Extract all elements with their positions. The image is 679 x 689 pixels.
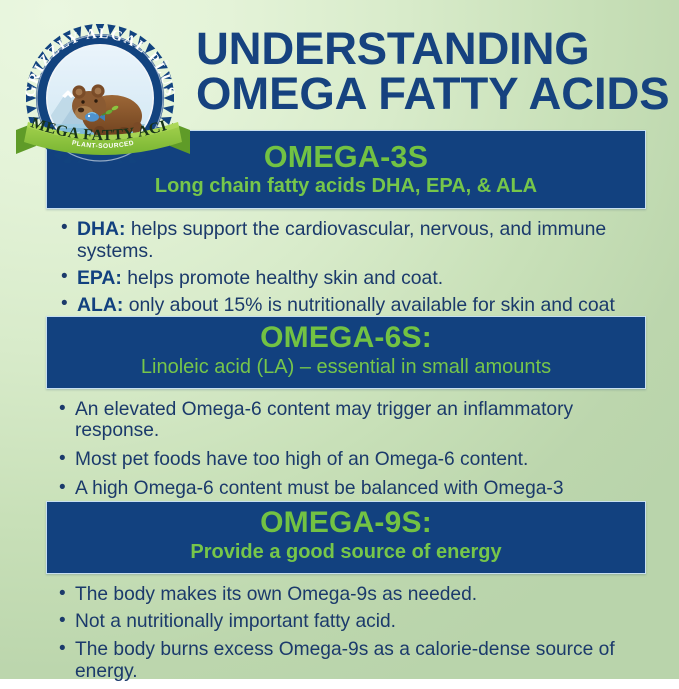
bullet-label: ALA: xyxy=(77,294,123,316)
bullet-text: helps promote healthy skin and coat. xyxy=(122,267,443,289)
section-subtitle-omega-3s: Long chain fatty acids DHA, EPA, & ALA xyxy=(55,175,637,198)
section-header-omega-6s: OMEGA-6S: Linoleic acid (LA) – essential… xyxy=(46,316,646,389)
bullet-text: Not a nutritionally important fatty acid… xyxy=(75,611,396,632)
section-omega-6s: OMEGA-6S: Linoleic acid (LA) – essential… xyxy=(46,316,646,529)
list-item: Most pet foods have too high of an Omega… xyxy=(58,449,646,471)
bullet-list-omega-9s: The body makes its own Omega-9s as neede… xyxy=(46,584,646,684)
infographic-canvas: GRIZZLY ALGAL PLUS ® OMEGA FATTY ACIDS P… xyxy=(0,0,679,679)
brand-logo-seal: GRIZZLY ALGAL PLUS ® OMEGA FATTY ACIDS P… xyxy=(14,18,192,163)
bullet-text: An elevated Omega-6 content may trigger … xyxy=(75,399,573,442)
list-item: EPA: helps promote healthy skin and coat… xyxy=(60,267,646,289)
list-item: An elevated Omega-6 content may trigger … xyxy=(58,399,646,443)
section-title-omega-6s: OMEGA-6S: xyxy=(55,323,637,354)
bullet-text: helps support the cardiovascular, nervou… xyxy=(77,218,606,262)
list-item: The body burns excess Omega-9s as a calo… xyxy=(58,639,646,683)
section-subtitle-omega-6s: Linoleic acid (LA) – essential in small … xyxy=(55,356,637,379)
bullet-text: The body burns excess Omega-9s as a calo… xyxy=(75,639,615,682)
list-item: DHA: helps support the cardiovascular, n… xyxy=(60,218,646,262)
section-omega-9s: OMEGA-9S: Provide a good source of energ… xyxy=(46,501,646,689)
bullet-text: Most pet foods have too high of an Omega… xyxy=(75,449,528,470)
list-item: Not a nutritionally important fatty acid… xyxy=(58,611,646,633)
list-item: The body makes its own Omega-9s as neede… xyxy=(58,584,646,606)
bullet-text: The body makes its own Omega-9s as neede… xyxy=(75,584,477,605)
section-subtitle-omega-9s: Provide a good source of energy xyxy=(55,541,637,564)
seal-trademark: ® xyxy=(164,60,169,67)
page-title-line-1: UNDERSTANDING xyxy=(196,27,672,71)
section-title-omega-9s: OMEGA-9S: xyxy=(55,508,637,539)
bullet-label: DHA: xyxy=(77,218,125,240)
page-title: UNDERSTANDING OMEGA FATTY ACIDS xyxy=(196,27,672,116)
section-header-omega-9s: OMEGA-9S: Provide a good source of energ… xyxy=(46,501,646,574)
page-title-line-2: OMEGA FATTY ACIDS xyxy=(196,72,672,116)
bullet-label: EPA: xyxy=(77,267,122,289)
